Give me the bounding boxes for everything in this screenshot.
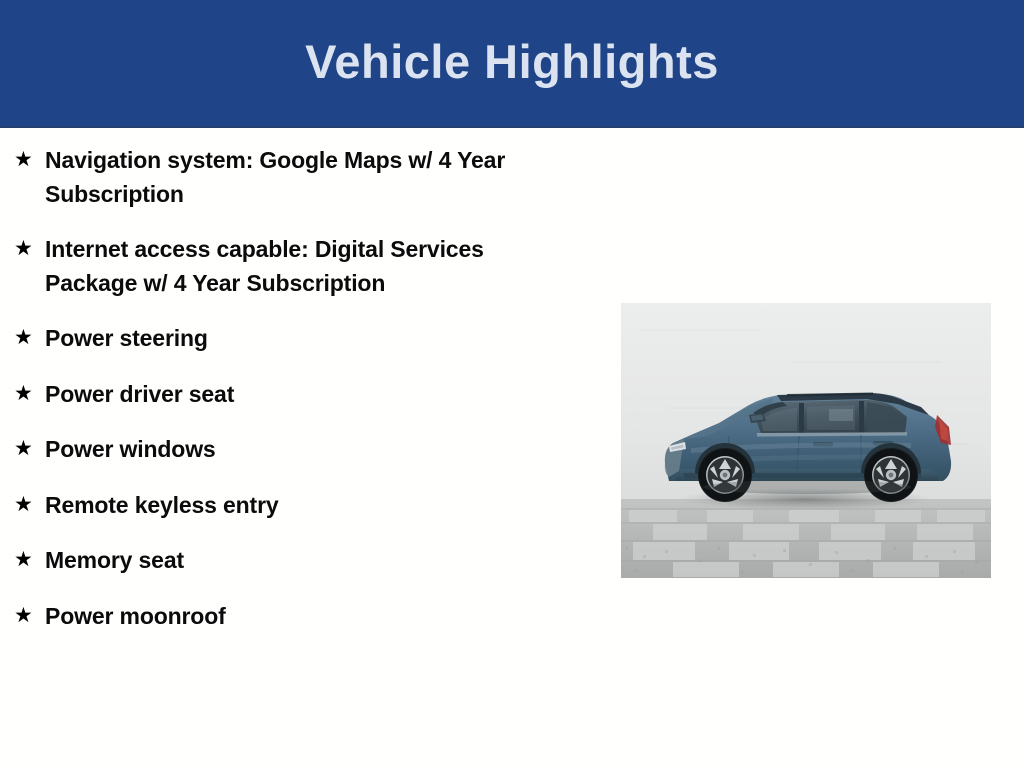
- list-item: ★ Power windows: [14, 433, 594, 467]
- star-icon: ★: [14, 233, 45, 265]
- highlight-text: Power steering: [45, 322, 594, 356]
- highlight-text: Remote keyless entry: [45, 489, 594, 523]
- list-item: ★ Memory seat: [14, 544, 594, 578]
- highlight-text: Power driver seat: [45, 378, 594, 412]
- vehicle-side-profile-illustration: [621, 303, 991, 578]
- star-icon: ★: [14, 433, 45, 465]
- star-icon: ★: [14, 144, 45, 176]
- vehicle-photo: [621, 303, 991, 578]
- page-title: Vehicle Highlights: [305, 38, 719, 91]
- highlight-text: Internet access capable: Digital Service…: [45, 233, 500, 300]
- star-icon: ★: [14, 489, 45, 521]
- list-item: ★ Power moonroof: [14, 600, 594, 634]
- vehicle-highlights-list: ★ Navigation system: Google Maps w/ 4 Ye…: [14, 144, 594, 655]
- list-item: ★ Power steering: [14, 322, 594, 356]
- highlight-text: Power windows: [45, 433, 594, 467]
- header-banner: Vehicle Highlights: [0, 0, 1024, 128]
- star-icon: ★: [14, 544, 45, 576]
- highlight-text: Navigation system: Google Maps w/ 4 Year…: [45, 144, 567, 211]
- highlight-text: Power moonroof: [45, 600, 594, 634]
- star-icon: ★: [14, 600, 45, 632]
- list-item: ★ Remote keyless entry: [14, 489, 594, 523]
- star-icon: ★: [14, 322, 45, 354]
- list-item: ★ Power driver seat: [14, 378, 594, 412]
- slide-body: ★ Navigation system: Google Maps w/ 4 Ye…: [0, 128, 1024, 768]
- star-icon: ★: [14, 378, 45, 410]
- list-item: ★ Internet access capable: Digital Servi…: [14, 233, 594, 300]
- highlight-text: Memory seat: [45, 544, 594, 578]
- list-item: ★ Navigation system: Google Maps w/ 4 Ye…: [14, 144, 594, 211]
